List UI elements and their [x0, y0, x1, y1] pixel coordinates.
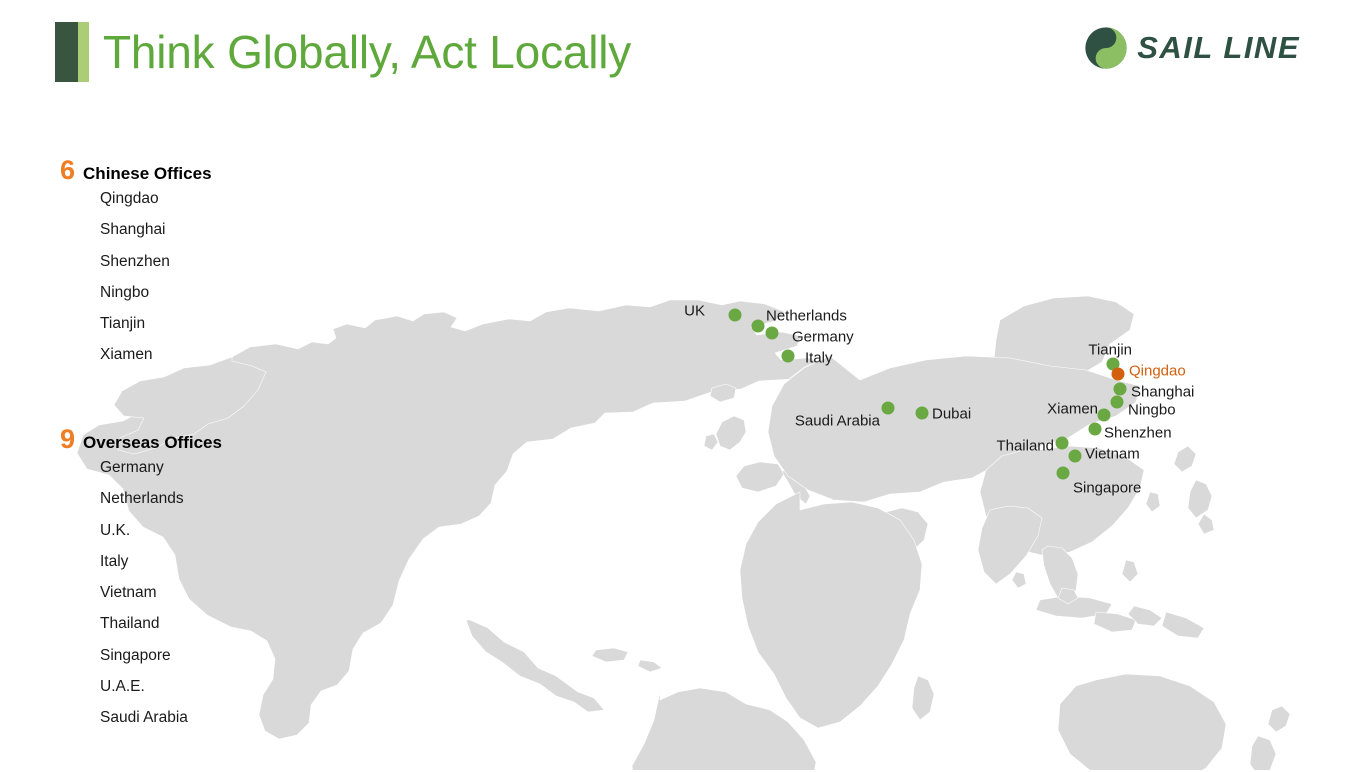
- map-marker-dot[interactable]: [1098, 409, 1111, 422]
- map-marker-label: Xiamen: [1047, 401, 1098, 418]
- overseas-offices-list: GermanyNetherlandsU.K.ItalyVietnamThaila…: [60, 452, 222, 734]
- list-item: Thailand: [100, 608, 222, 639]
- map-marker-dot[interactable]: [916, 407, 929, 420]
- overseas-offices-count: 9: [60, 426, 75, 452]
- map-marker-label: Netherlands: [766, 308, 847, 325]
- list-item: Xiamen: [100, 339, 212, 370]
- accent-bar-dark: [55, 22, 78, 82]
- list-item: Tianjin: [100, 308, 212, 339]
- chinese-offices-list: QingdaoShanghaiShenzhenNingboTianjinXiam…: [60, 183, 212, 371]
- chinese-offices-count: 6: [60, 157, 75, 183]
- map-marker-label: Germany: [792, 329, 854, 346]
- map-marker-dot[interactable]: [1112, 368, 1125, 381]
- map-marker-label: Vietnam: [1085, 446, 1140, 463]
- map-marker-label: Shenzhen: [1104, 425, 1172, 442]
- map-marker-label: Tianjin: [1088, 342, 1132, 359]
- map-marker-label: UK: [684, 303, 705, 320]
- map-marker-dot[interactable]: [782, 350, 795, 363]
- list-item: Singapore: [100, 640, 222, 671]
- map-marker-dot[interactable]: [1111, 396, 1124, 409]
- map-marker-label: Ningbo: [1128, 402, 1176, 419]
- map-marker-dot[interactable]: [882, 402, 895, 415]
- map-marker-label: Dubai: [932, 406, 971, 423]
- list-item: Saudi Arabia: [100, 702, 222, 733]
- list-item: Vietnam: [100, 577, 222, 608]
- map-marker-dot[interactable]: [766, 327, 779, 340]
- map-marker-dot[interactable]: [752, 320, 765, 333]
- title-accent-bar: [55, 22, 89, 82]
- list-item: Ningbo: [100, 277, 212, 308]
- map-marker-label: Shanghai: [1131, 384, 1194, 401]
- logo-wordmark: SAIL LINE: [1137, 30, 1300, 66]
- map-marker-label: Singapore: [1073, 480, 1141, 497]
- map-marker-label: Thailand: [996, 438, 1054, 455]
- list-item: Netherlands: [100, 483, 222, 514]
- map-marker-dot[interactable]: [729, 309, 742, 322]
- list-item: Shenzhen: [100, 246, 212, 277]
- sail-line-mark-icon: [1084, 26, 1128, 70]
- chinese-offices-block: 6 Chinese Offices QingdaoShanghaiShenzhe…: [60, 157, 212, 371]
- map-marker-label: Italy: [805, 350, 833, 367]
- map-marker-dot[interactable]: [1057, 467, 1070, 480]
- overseas-offices-heading: 9 Overseas Offices: [60, 426, 222, 452]
- slide-canvas: Think Globally, Act Locally SAIL LINE: [0, 0, 1352, 772]
- accent-bar-light: [78, 22, 89, 82]
- map-marker-dot[interactable]: [1089, 423, 1102, 436]
- overseas-offices-block: 9 Overseas Offices GermanyNetherlandsU.K…: [60, 426, 222, 734]
- brand-logo: SAIL LINE: [1084, 26, 1300, 70]
- map-marker-label: Qingdao: [1129, 363, 1186, 380]
- map-marker-dot[interactable]: [1069, 450, 1082, 463]
- map-marker-label: Saudi Arabia: [795, 413, 880, 430]
- list-item: Germany: [100, 452, 222, 483]
- list-item: Qingdao: [100, 183, 212, 214]
- map-marker-dot[interactable]: [1114, 383, 1127, 396]
- page-title: Think Globally, Act Locally: [103, 22, 631, 82]
- map-marker-dot[interactable]: [1056, 437, 1069, 450]
- chinese-offices-heading: 6 Chinese Offices: [60, 157, 212, 183]
- list-item: U.K.: [100, 515, 222, 546]
- list-item: U.A.E.: [100, 671, 222, 702]
- list-item: Italy: [100, 546, 222, 577]
- list-item: Shanghai: [100, 214, 212, 245]
